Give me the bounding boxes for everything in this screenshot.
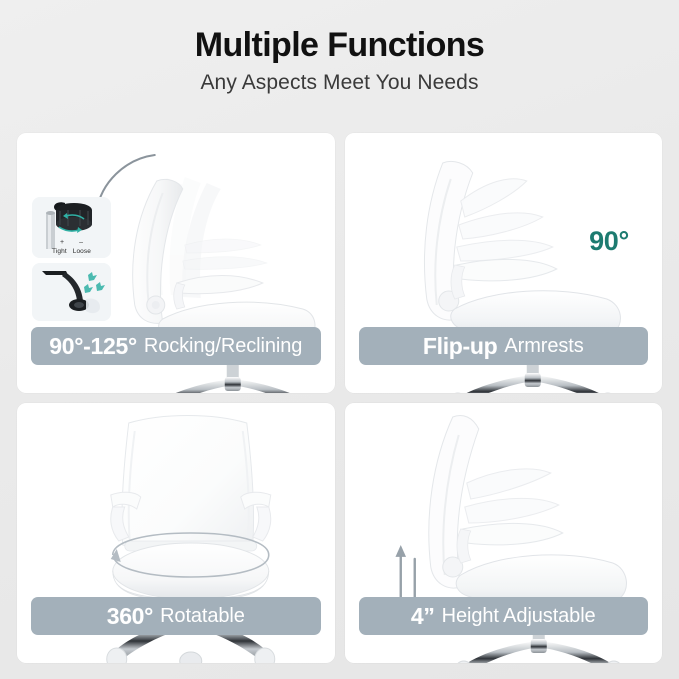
annotation-angle-90: 90° — [589, 226, 629, 257]
feature-banner-rocking-reclining: 90°-125° Rocking/Reclining — [31, 327, 321, 365]
inset-tension-knob: + – Tight Loose — [32, 197, 111, 258]
banner-value: 4” — [411, 603, 435, 630]
tension-labels: Tight Loose — [32, 248, 111, 255]
feature-card-flip-up-armrests[interactable]: 90° Flip-up Armrests — [345, 133, 663, 393]
banner-value: 90°-125° — [49, 333, 137, 360]
banner-text: Rotatable — [160, 605, 245, 628]
page-header: Multiple Functions Any Aspects Meet You … — [0, 0, 679, 95]
feature-banner-height-adjustable: 4” Height Adjustable — [359, 597, 649, 635]
banner-text: Height Adjustable — [442, 605, 596, 628]
feature-card-rocking-reclining[interactable]: + – Tight Loose — [17, 133, 335, 393]
label-loose: Loose — [73, 248, 91, 255]
page-title: Multiple Functions — [0, 26, 679, 64]
sign-minus: – — [79, 239, 83, 246]
banner-value: 360° — [107, 603, 153, 630]
feature-banner-flip-up-armrests: Flip-up Armrests — [359, 327, 649, 365]
banner-value: Flip-up — [423, 333, 498, 360]
feature-card-rotatable[interactable]: 360° Rotatable — [17, 403, 335, 663]
feature-grid: + – Tight Loose — [17, 133, 662, 663]
sign-plus: + — [60, 239, 64, 246]
banner-text: Rocking/Reclining — [144, 335, 302, 358]
feature-card-height-adjustable[interactable]: 4” Height Adjustable — [345, 403, 663, 663]
tension-signs: + – — [32, 239, 111, 246]
label-tight: Tight — [52, 248, 67, 255]
banner-text: Armrests — [504, 335, 583, 358]
feature-banner-rotatable: 360° Rotatable — [31, 597, 321, 635]
page-subtitle: Any Aspects Meet You Needs — [0, 71, 679, 95]
inset-allen-key-lever — [32, 263, 111, 321]
